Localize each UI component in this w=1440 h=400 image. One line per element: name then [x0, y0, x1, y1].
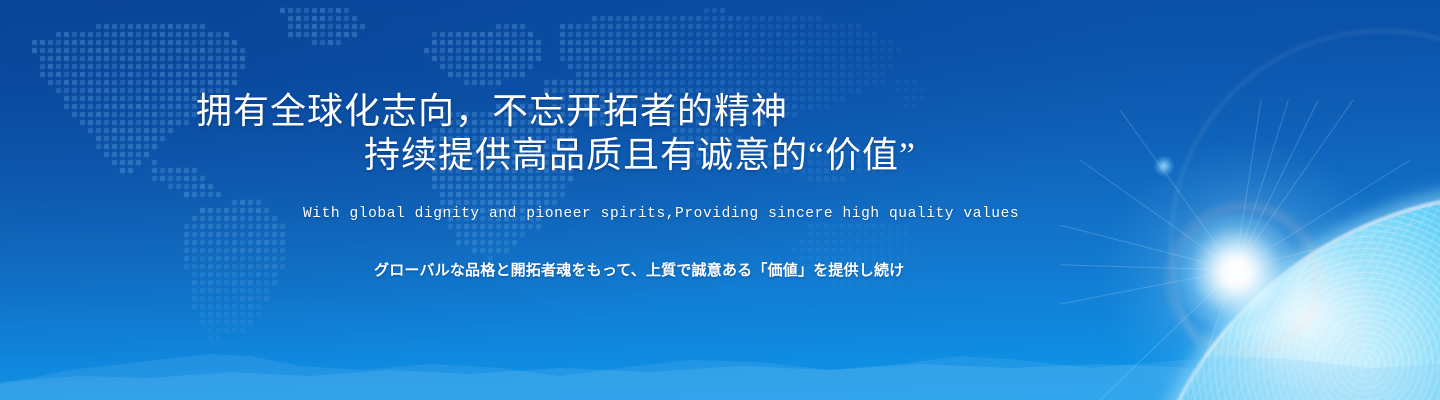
- headline-line-1: 拥有全球化志向，不忘开拓者的精神: [196, 90, 788, 132]
- hero-banner: 拥有全球化志向，不忘开拓者的精神 持续提供高品质且有诚意的“价值” With g…: [0, 0, 1440, 400]
- banner-copy: 拥有全球化志向，不忘开拓者的精神 持续提供高品质且有诚意的“价值” With g…: [0, 0, 1440, 400]
- subtitle-english: With global dignity and pioneer spirits,…: [303, 206, 1019, 222]
- subtitle-japanese: グローバルな品格と開拓者魂をもって、上質で誠意ある「価値」を提供し続け: [374, 259, 904, 280]
- headline-line-2: 持续提供高品质且有诚意的“价值”: [364, 134, 916, 176]
